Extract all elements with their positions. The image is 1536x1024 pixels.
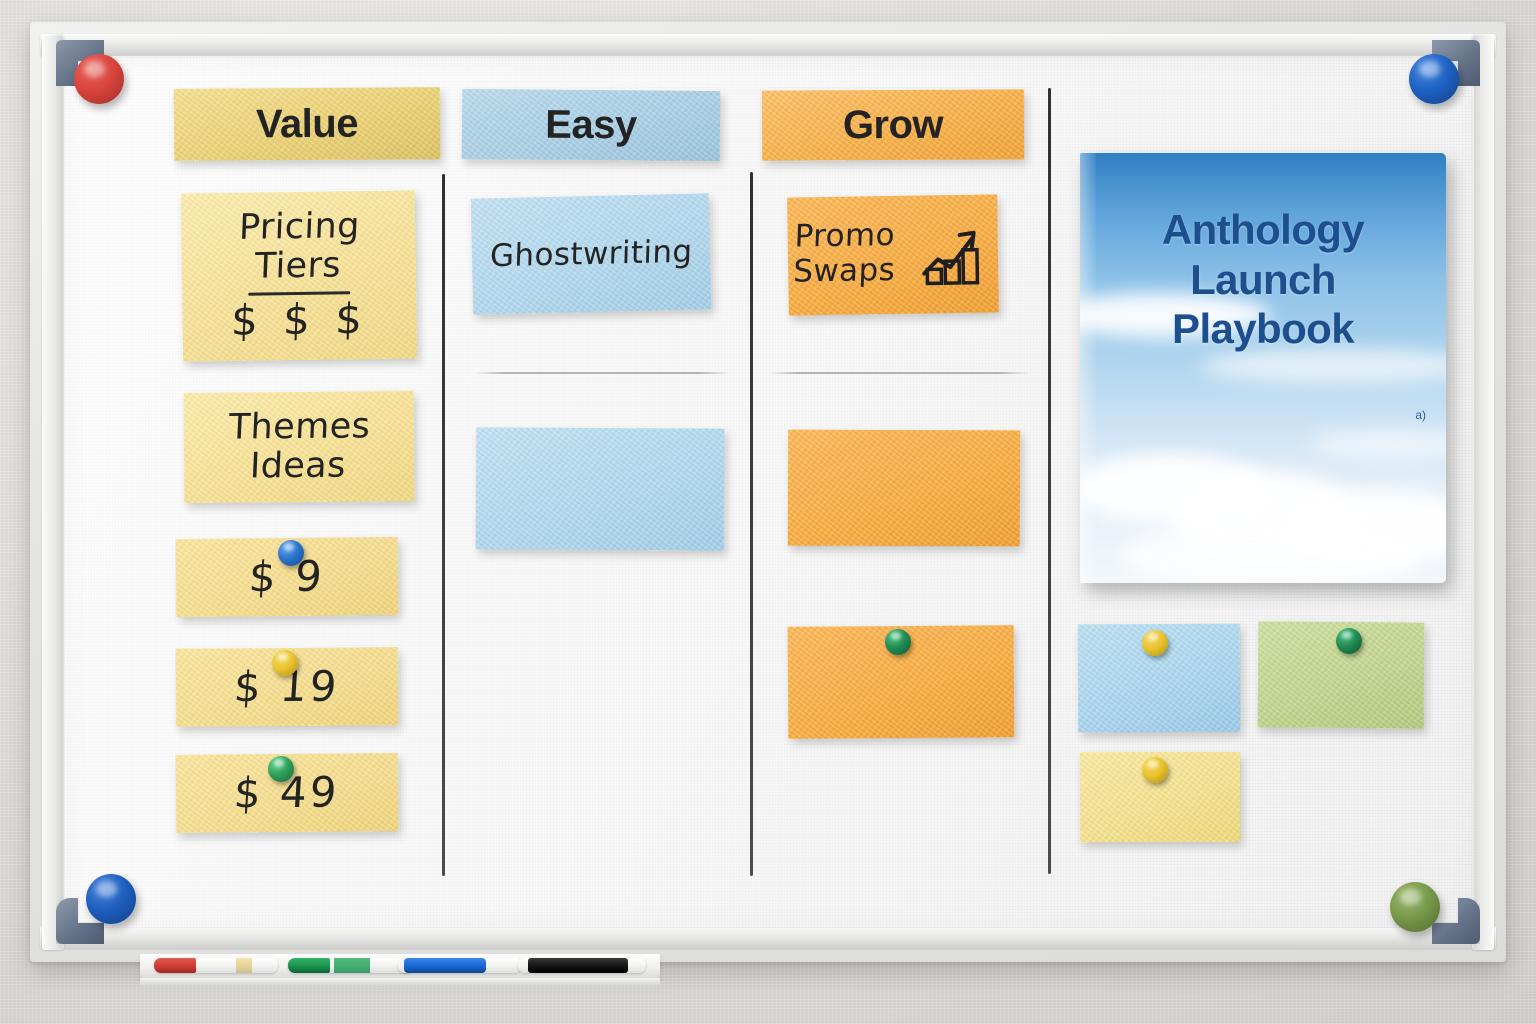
row-divider-easy bbox=[474, 372, 730, 374]
marker-red[interactable] bbox=[154, 958, 278, 973]
pin-side-green[interactable] bbox=[1336, 628, 1362, 654]
book-imprint-mark: a) bbox=[1415, 408, 1426, 422]
note-easy-blank[interactable] bbox=[476, 427, 725, 550]
column-header-value-label: Value bbox=[256, 101, 358, 147]
book-title: Anthology Launch Playbook bbox=[1080, 205, 1446, 354]
magnet-top-left[interactable] bbox=[74, 54, 124, 104]
pin-side-yellow[interactable] bbox=[1142, 757, 1168, 783]
magnet-top-right[interactable] bbox=[1409, 54, 1459, 104]
whiteboard-scene: Value Easy Grow Pricing Tiers $ $ $ Them… bbox=[0, 0, 1536, 1024]
column-header-easy[interactable]: Easy bbox=[462, 89, 721, 161]
note-themes-ideas[interactable]: Themes Ideas bbox=[184, 391, 415, 503]
marker-red-cap bbox=[154, 958, 196, 973]
note-pricing-tiers-sub: $ $ $ bbox=[182, 294, 418, 344]
pin-price-9[interactable] bbox=[278, 540, 304, 566]
marker-tray-lip bbox=[140, 978, 660, 987]
note-pricing-tiers[interactable]: Pricing Tiers $ $ $ bbox=[181, 190, 417, 361]
marker-green[interactable] bbox=[288, 958, 412, 973]
pin-price-49[interactable] bbox=[268, 756, 294, 782]
frame-rail-left bbox=[42, 34, 64, 950]
column-divider-1 bbox=[442, 174, 445, 876]
note-promo-swaps-label: Promo Swaps bbox=[793, 217, 926, 289]
pin-price-19[interactable] bbox=[272, 650, 298, 676]
marker-red-band bbox=[236, 958, 252, 973]
column-header-grow-label: Grow bbox=[843, 102, 943, 147]
note-grow-blank-1[interactable] bbox=[788, 430, 1020, 547]
note-pricing-tiers-label: Pricing Tiers bbox=[180, 206, 417, 288]
frame-rail-right bbox=[1472, 34, 1494, 950]
marker-green-band bbox=[334, 958, 370, 973]
column-header-grow[interactable]: Grow bbox=[762, 89, 1024, 160]
note-ghostwriting[interactable]: Ghostwriting bbox=[471, 193, 712, 314]
note-themes-ideas-label: Themes Ideas bbox=[227, 407, 372, 487]
pin-grow-blank-2[interactable] bbox=[885, 629, 911, 655]
pin-side-blue[interactable] bbox=[1142, 630, 1168, 656]
marker-black[interactable] bbox=[518, 958, 646, 973]
note-ghostwriting-label: Ghostwriting bbox=[489, 234, 693, 273]
column-header-value[interactable]: Value bbox=[174, 87, 440, 161]
row-divider-grow bbox=[768, 372, 1030, 374]
frame-rail-top bbox=[40, 34, 1496, 56]
magnet-bottom-right[interactable] bbox=[1390, 882, 1440, 932]
book-cover-anthology-launch-playbook[interactable]: Anthology Launch Playbook a) bbox=[1080, 153, 1446, 583]
frame-rail-bottom bbox=[40, 926, 1496, 948]
column-header-easy-label: Easy bbox=[545, 102, 637, 148]
note-promo-swaps[interactable]: Promo Swaps bbox=[787, 194, 999, 315]
marker-blue[interactable] bbox=[398, 958, 522, 973]
marker-black-cap bbox=[528, 958, 628, 973]
marker-green-cap bbox=[288, 958, 330, 973]
magnet-bottom-left[interactable] bbox=[86, 874, 136, 924]
marker-blue-cap bbox=[404, 958, 486, 973]
cloud-shape bbox=[1120, 521, 1420, 583]
growth-chart-icon bbox=[913, 216, 990, 293]
marker-tray bbox=[140, 954, 660, 980]
column-divider-3 bbox=[1048, 88, 1051, 874]
column-divider-2 bbox=[750, 172, 753, 876]
